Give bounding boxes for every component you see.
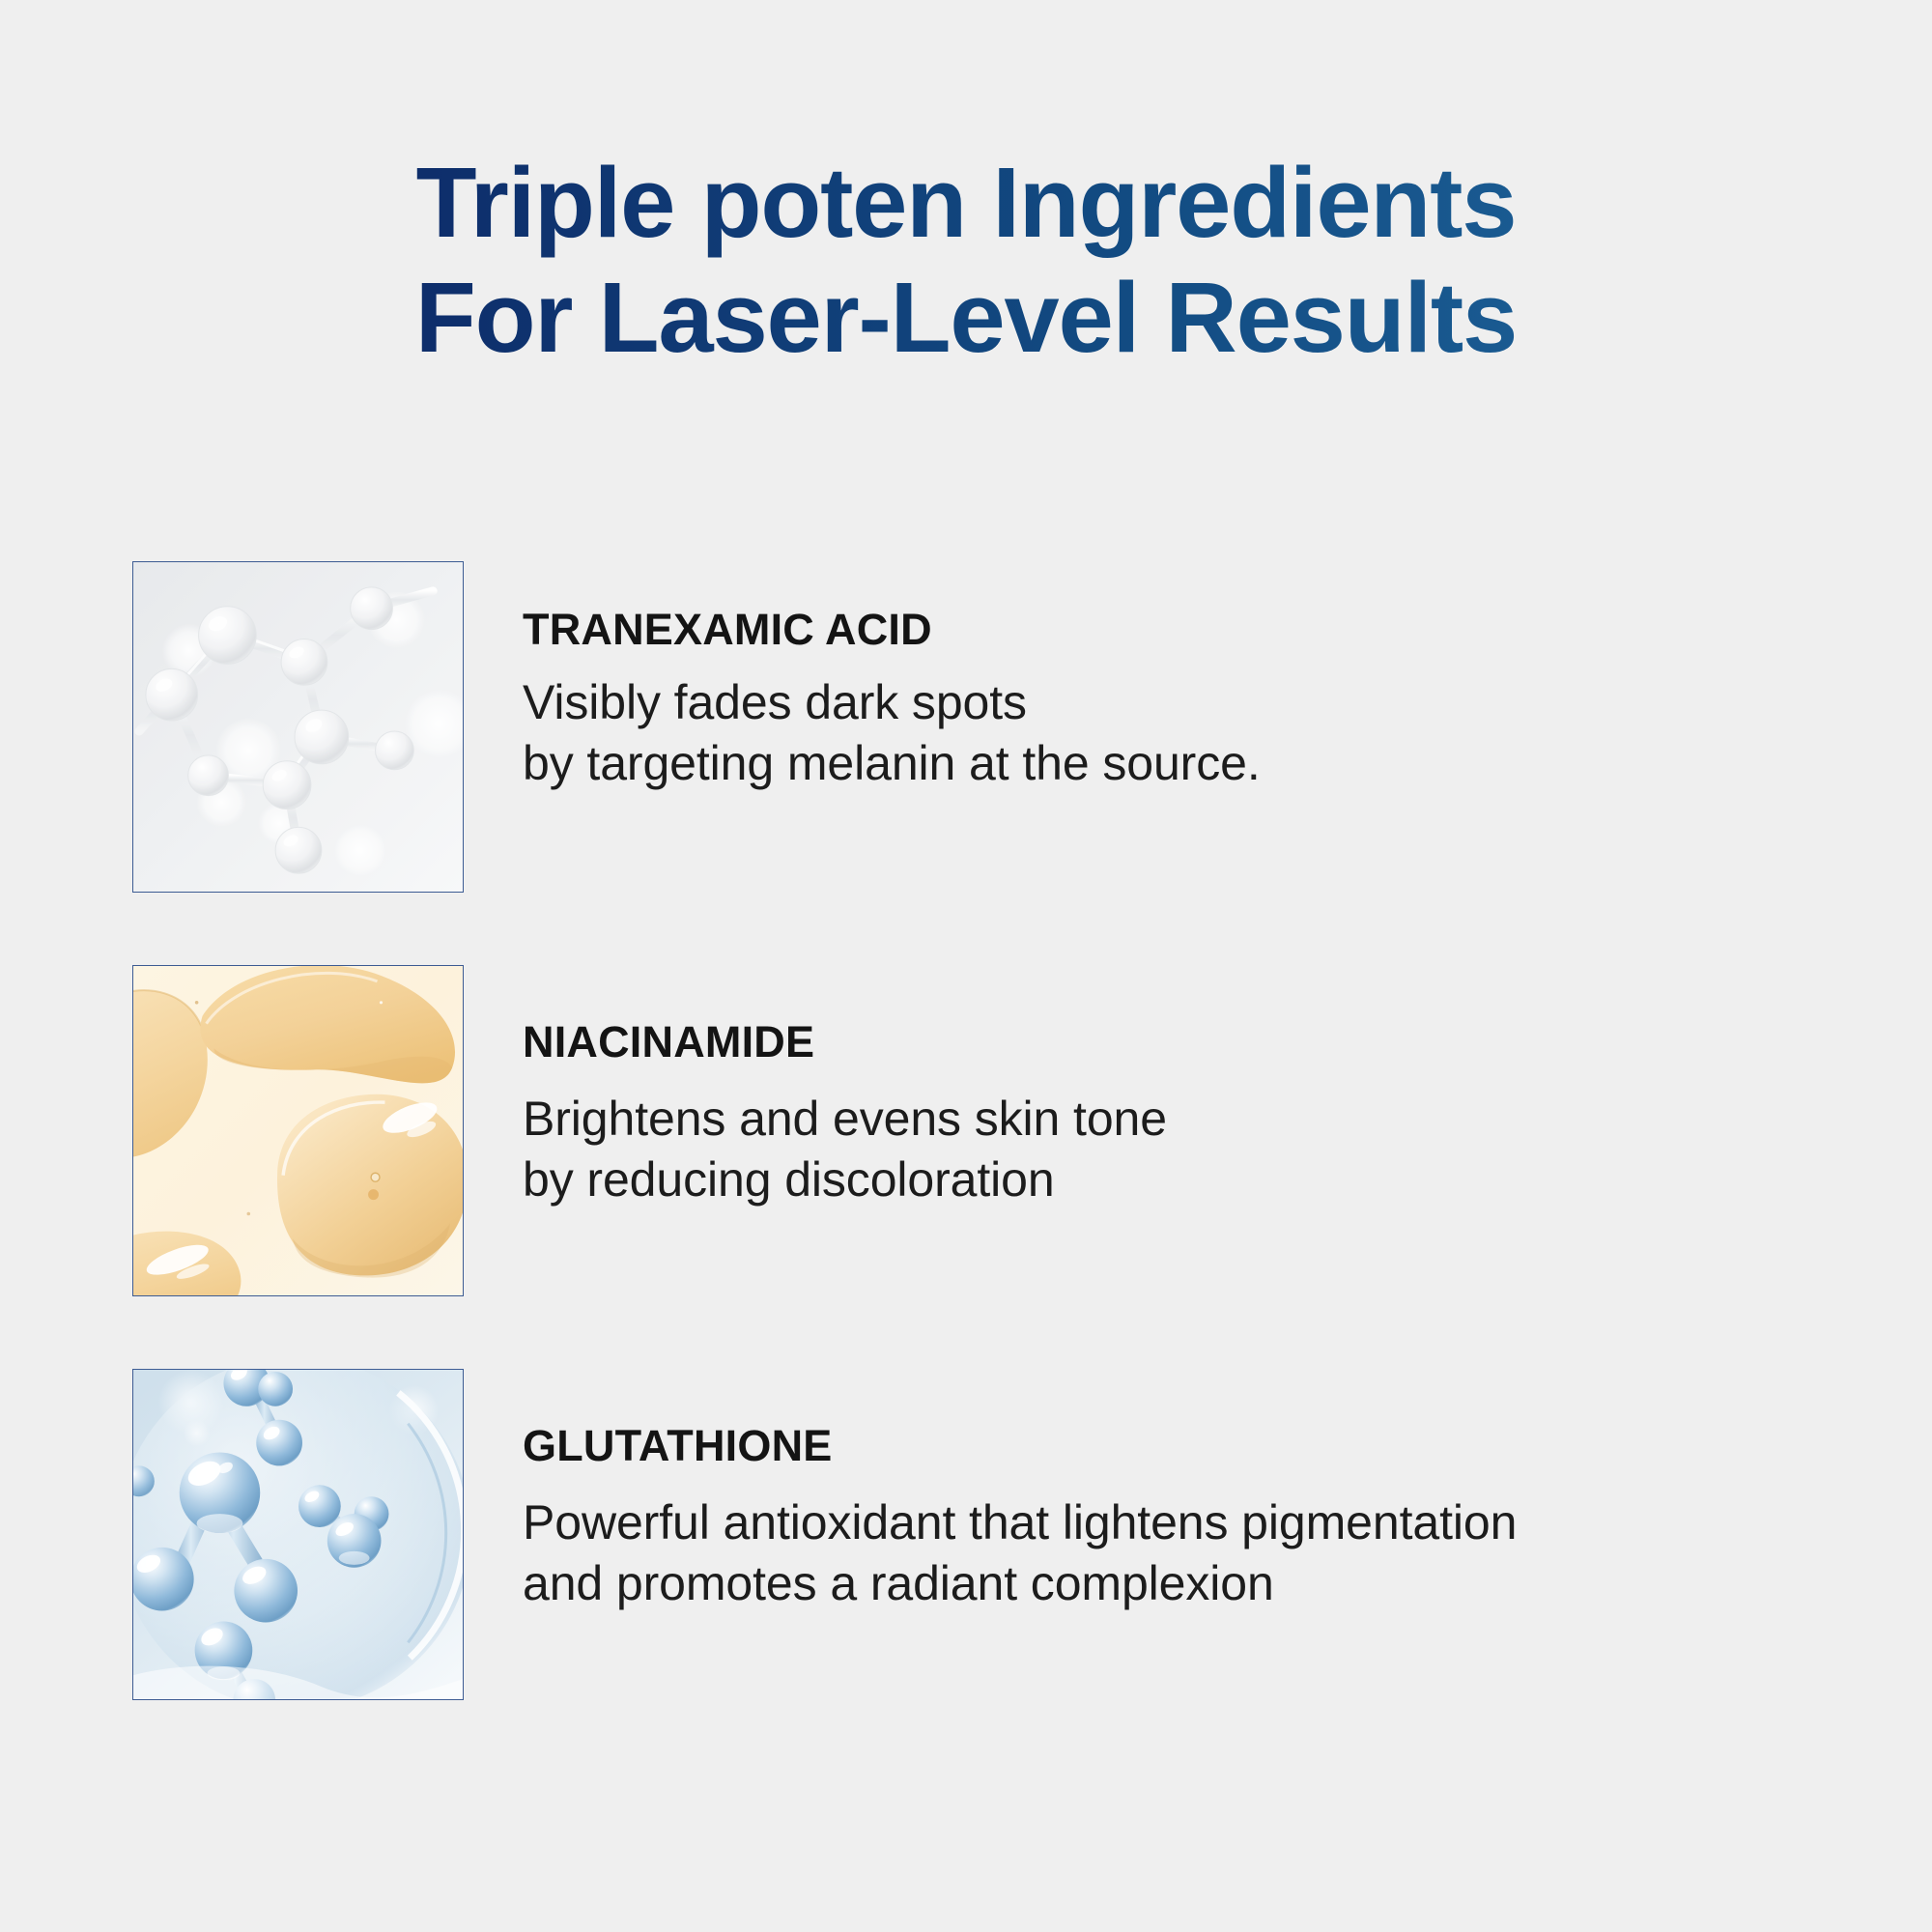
promo-graphic: Triple poten Ingredients For Laser-Level… <box>0 0 1932 1932</box>
ingredient-description-line-1: Visibly fades dark spots <box>523 672 1856 733</box>
ingredient-list: TRANEXAMIC ACID Visibly fades dark spots… <box>0 0 1932 1932</box>
ingredient-description-line-2: and promotes a radiant complexion <box>523 1553 1856 1614</box>
glutathione-blue-molecules-photo <box>132 1369 464 1700</box>
ingredient-description-line-2: by targeting melanin at the source. <box>523 733 1856 794</box>
ingredient-description: Visibly fades dark spots by targeting me… <box>523 672 1856 793</box>
ingredient-row: GLUTATHIONE Powerful antioxidant that li… <box>132 1369 1871 1702</box>
ingredient-name: GLUTATHIONE <box>523 1424 1856 1467</box>
ingredient-row: TRANEXAMIC ACID Visibly fades dark spots… <box>132 561 1871 895</box>
ingredient-copy: TRANEXAMIC ACID Visibly fades dark spots… <box>523 608 1856 793</box>
ingredient-row: NIACINAMIDE Brightens and evens skin ton… <box>132 965 1871 1298</box>
ingredient-copy: NIACINAMIDE Brightens and evens skin ton… <box>523 1020 1856 1209</box>
ingredient-name: TRANEXAMIC ACID <box>523 608 1856 651</box>
ingredient-name: NIACINAMIDE <box>523 1020 1856 1064</box>
ingredient-description-line-2: by reducing discoloration <box>523 1150 1856 1210</box>
ingredient-description: Powerful antioxidant that lightens pigme… <box>523 1492 1856 1613</box>
ingredient-description-line-1: Powerful antioxidant that lightens pigme… <box>523 1492 1856 1553</box>
niacinamide-serum-droplets-photo <box>132 965 464 1296</box>
ingredient-copy: GLUTATHIONE Powerful antioxidant that li… <box>523 1424 1856 1613</box>
ingredient-description-line-1: Brightens and evens skin tone <box>523 1089 1856 1150</box>
ingredient-description: Brightens and evens skin tone by reducin… <box>523 1089 1856 1209</box>
tranexamic-acid-molecule-photo <box>132 561 464 893</box>
